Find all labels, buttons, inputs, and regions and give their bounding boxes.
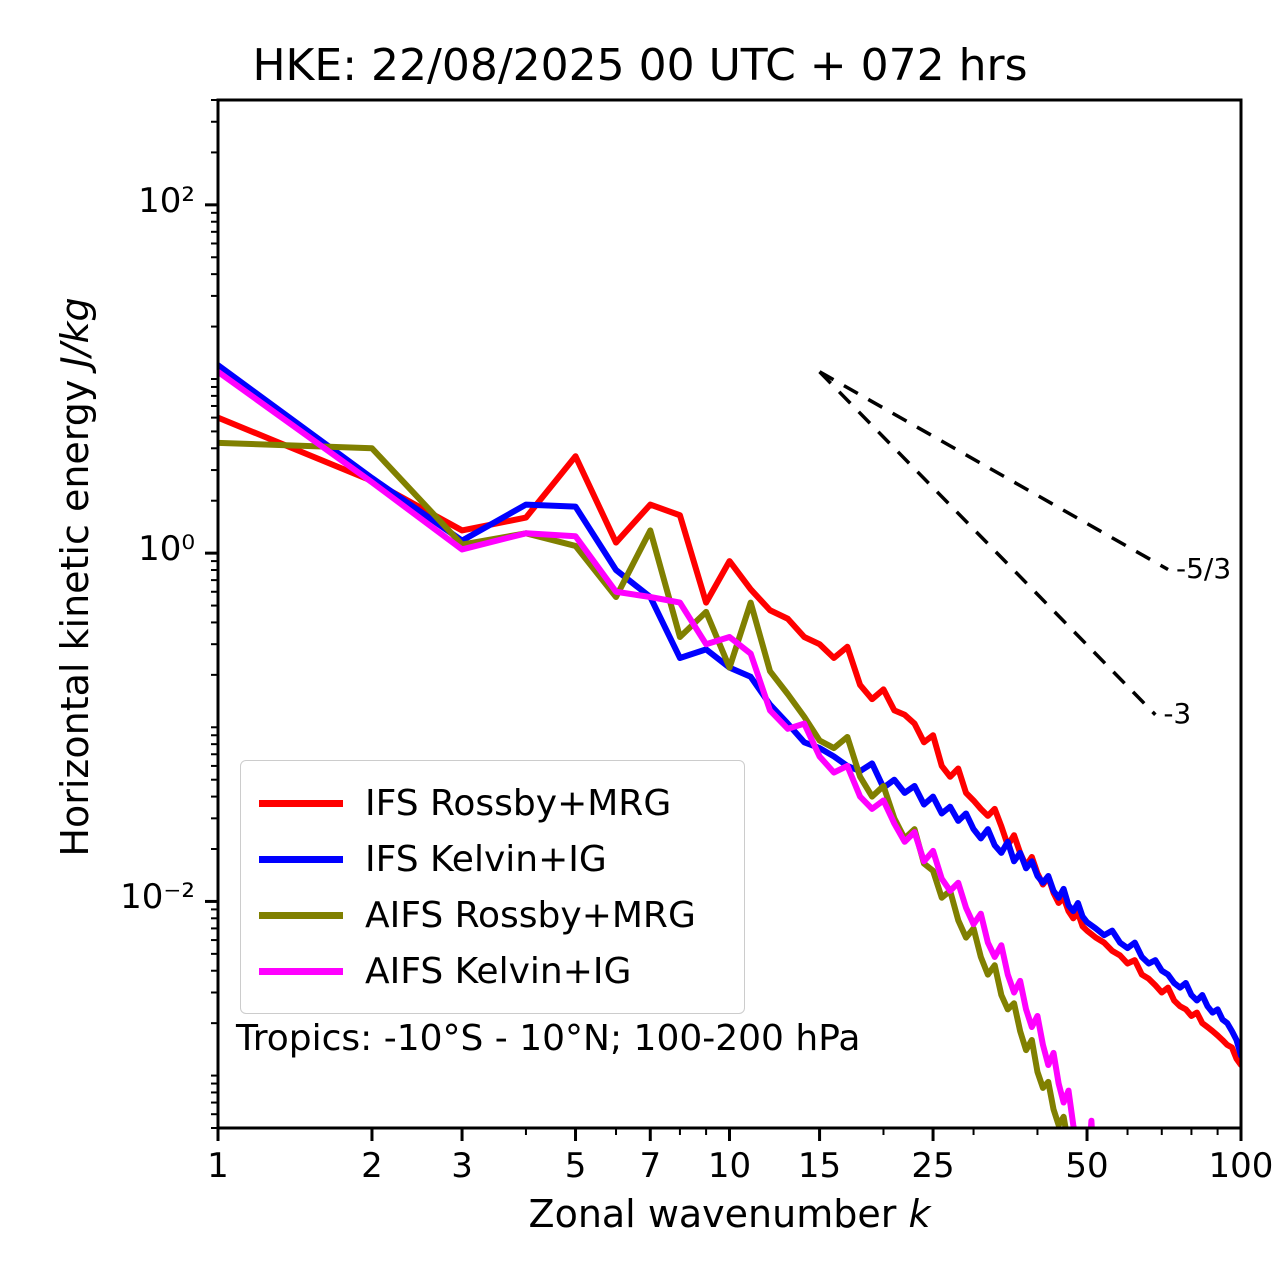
x-tick-label: 100 <box>1161 1146 1280 1186</box>
x-tick-label: 1 <box>138 1146 298 1186</box>
legend-item-label: AIFS Kelvin+IG <box>365 951 631 992</box>
figure-canvas: HKE: 22/08/2025 00 UTC + 072 hrs Horizon… <box>0 0 1280 1288</box>
y-tick-label: 10⁰ <box>30 529 195 569</box>
slope-label-five-thirds: -5/3 <box>1176 552 1231 585</box>
legend-item-label: IFS Rossby+MRG <box>365 783 671 824</box>
legend-item-label: IFS Kelvin+IG <box>365 839 607 880</box>
legend-swatch-icon <box>259 968 343 975</box>
legend-swatch-icon <box>259 856 343 863</box>
y-tick-label: 10⁻² <box>30 877 195 917</box>
legend-item-2[interactable]: AIFS Rossby+MRG <box>259 887 726 943</box>
legend-item-0[interactable]: IFS Rossby+MRG <box>259 775 726 831</box>
region-annotation: Tropics: -10°S - 10°N; 100-200 hPa <box>236 1018 860 1059</box>
legend-item-label: AIFS Rossby+MRG <box>365 895 696 936</box>
legend-item-1[interactable]: IFS Kelvin+IG <box>259 831 726 887</box>
legend[interactable]: IFS Rossby+MRGIFS Kelvin+IGAIFS Rossby+M… <box>240 760 745 1014</box>
legend-item-3[interactable]: AIFS Kelvin+IG <box>259 943 726 999</box>
x-tick-label: 25 <box>853 1146 1013 1186</box>
slope-label-three: -3 <box>1163 697 1191 730</box>
y-tick-label: 10² <box>30 181 195 221</box>
legend-swatch-icon <box>259 912 343 919</box>
legend-swatch-icon <box>259 800 343 807</box>
x-tick-label: 50 <box>1007 1146 1167 1186</box>
